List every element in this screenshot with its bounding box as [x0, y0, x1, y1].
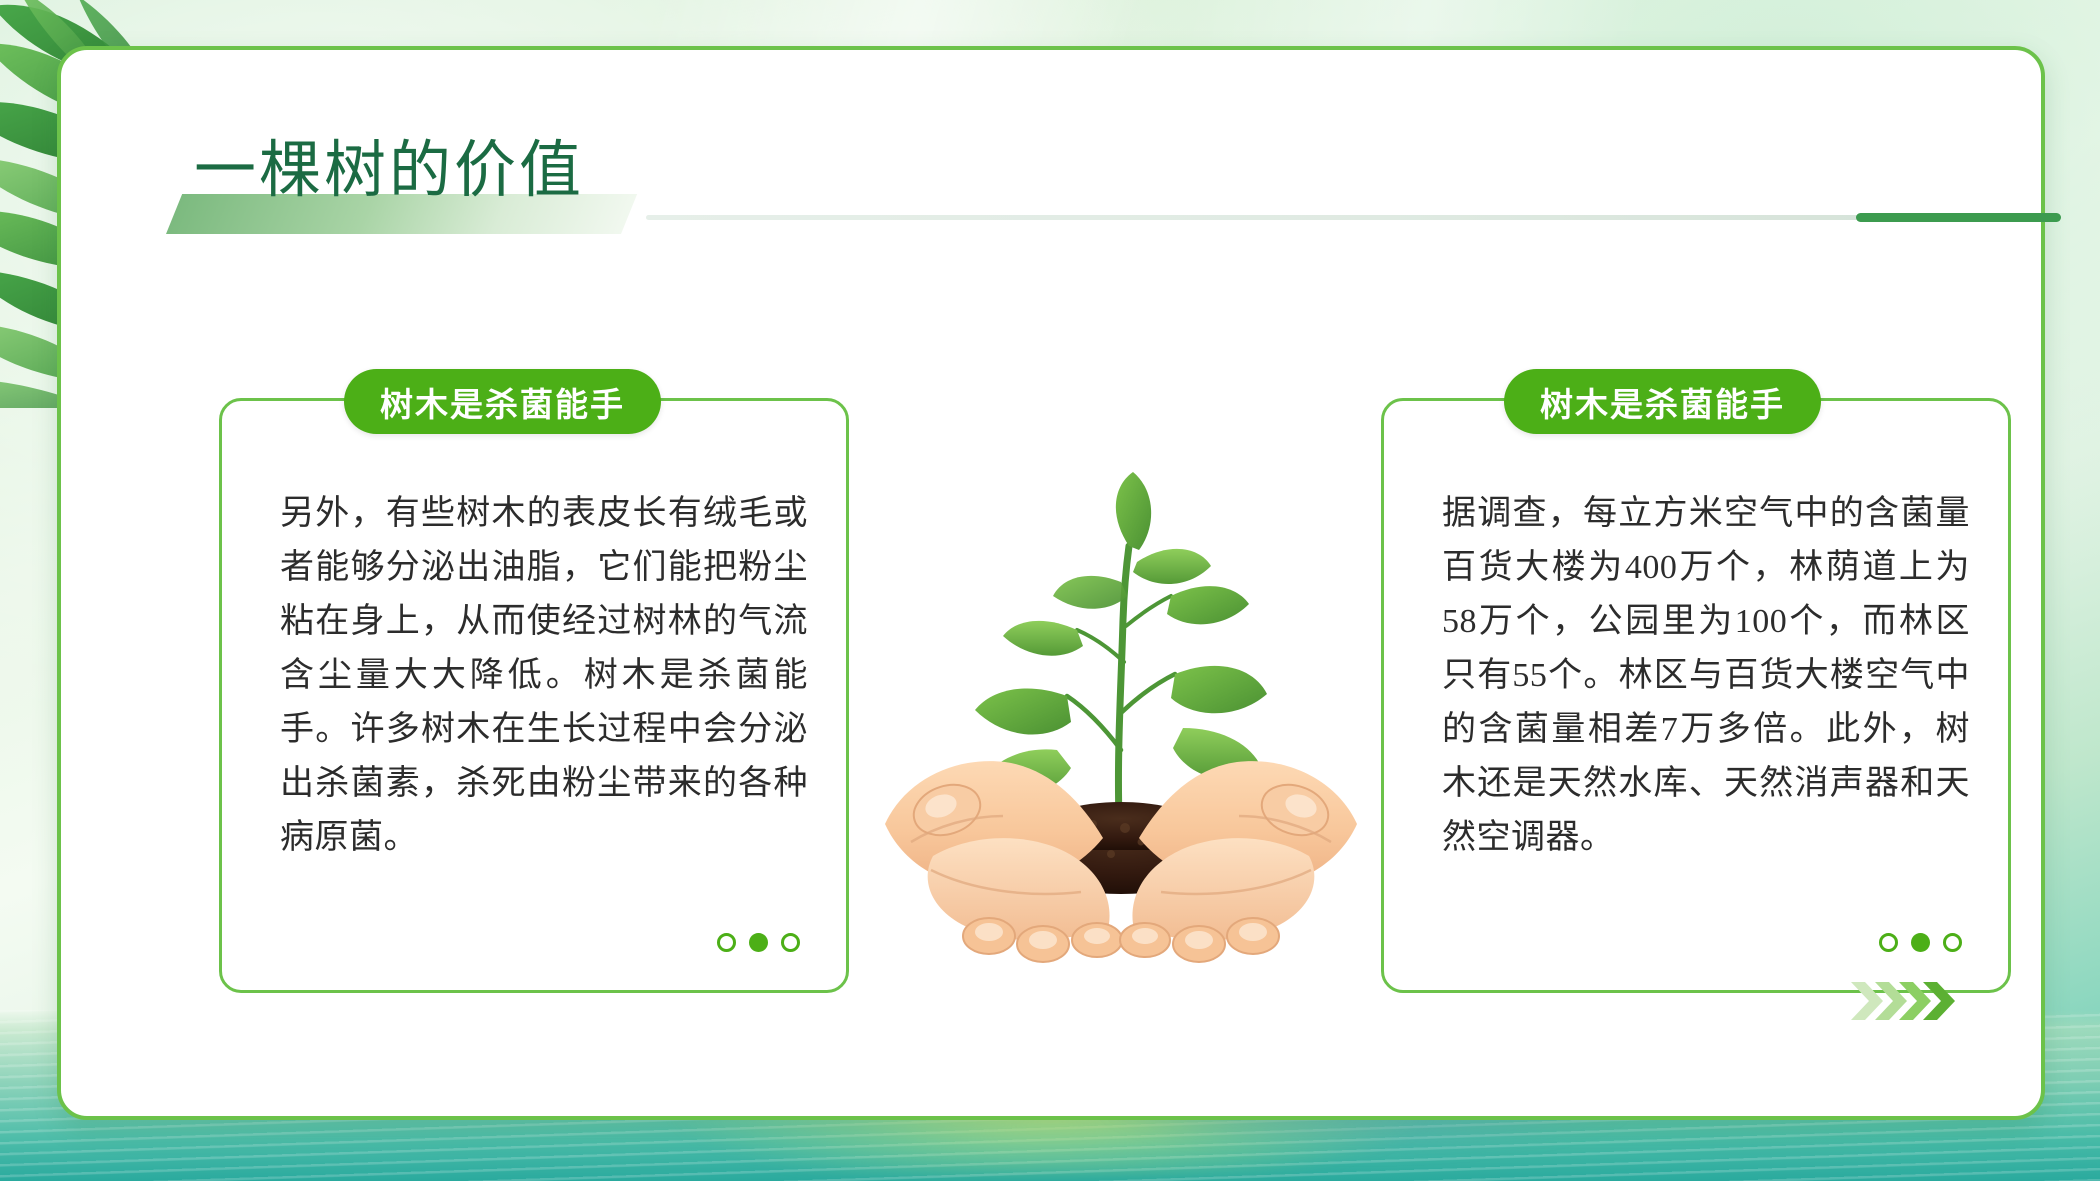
slide-stage: 一棵树的价值 树木是杀菌能手 另外，有些树木的表皮长有绒毛或者能够分泌出油脂，它…	[0, 0, 2100, 1181]
title-divider-accent	[1856, 213, 2061, 222]
card-left-body: 另外，有些树木的表皮长有绒毛或者能够分泌出油脂，它们能把粉尘粘在身上，从而使经过…	[280, 487, 808, 865]
hands-holding-seedling-icon	[871, 450, 1371, 970]
slide-card: 一棵树的价值 树木是杀菌能手 另外，有些树木的表皮长有绒毛或者能够分泌出油脂，它…	[57, 46, 2045, 1120]
pagination-dot-2[interactable]	[1911, 933, 1930, 952]
card-right-pagination[interactable]	[1879, 933, 1962, 952]
pagination-dot-3[interactable]	[1943, 933, 1962, 952]
page-title: 一棵树的价值	[166, 128, 584, 228]
card-right-body: 据调查，每立方米空气中的含菌量百货大楼为400万个，林荫道上为58万个，公园里为…	[1442, 487, 1970, 865]
content-card-right: 树木是杀菌能手 据调查，每立方米空气中的含菌量百货大楼为400万个，林荫道上为5…	[1381, 398, 2011, 993]
card-left-pagination[interactable]	[717, 933, 800, 952]
content-card-left: 树木是杀菌能手 另外，有些树木的表皮长有绒毛或者能够分泌出油脂，它们能把粉尘粘在…	[219, 398, 849, 993]
card-left-badge: 树木是杀菌能手	[344, 369, 661, 434]
title-divider-line	[646, 215, 1876, 220]
pagination-dot-3[interactable]	[781, 933, 800, 952]
page-title-text: 一棵树的价值	[166, 128, 584, 202]
chevrons-right-icon	[1849, 978, 1959, 1024]
card-right-badge: 树木是杀菌能手	[1504, 369, 1821, 434]
pagination-dot-1[interactable]	[717, 933, 736, 952]
pagination-dot-1[interactable]	[1879, 933, 1898, 952]
pagination-dot-2[interactable]	[749, 933, 768, 952]
